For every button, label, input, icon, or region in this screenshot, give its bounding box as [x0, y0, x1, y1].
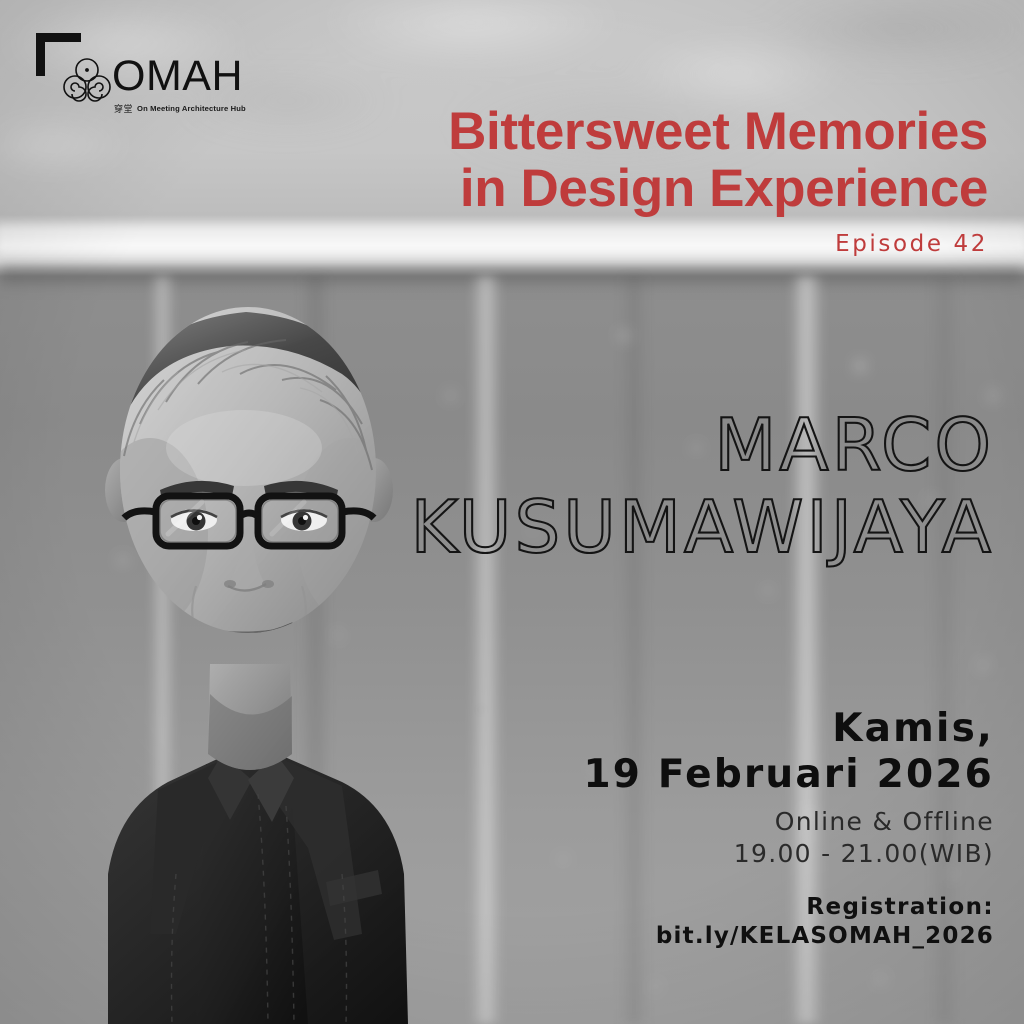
event-details-block: Kamis, 19 Februari 2026 Online & Offline… — [354, 706, 994, 951]
registration-link[interactable]: bit.ly/KELASOMAH_2026 — [354, 922, 994, 951]
event-day: Kamis, — [354, 706, 994, 752]
brand-logo: OMAH 穿堂 On Meeting Architecture Hub — [36, 28, 266, 114]
speaker-last-name: KUSUMAWIJAYA — [274, 486, 994, 568]
brand-cjk-mark: 穿堂 — [114, 102, 133, 115]
event-poster: OMAH 穿堂 On Meeting Architecture Hub Bitt… — [0, 0, 1024, 1024]
brand-tagline-row: 穿堂 On Meeting Architecture Hub — [114, 102, 246, 115]
episode-label: Episode 42 — [248, 231, 988, 257]
brand-tagline: On Meeting Architecture Hub — [137, 104, 246, 113]
title-line-1: Bittersweet Memories — [248, 104, 988, 161]
event-mode: Online & Offline — [354, 806, 994, 838]
title-line-2: in Design Experience — [248, 161, 988, 218]
brand-wordmark: OMAH — [112, 55, 243, 98]
speaker-first-name: MARCO — [274, 404, 994, 486]
registration-label: Registration: — [354, 893, 994, 922]
speaker-name-block: MARCO KUSUMAWIJAYA — [274, 404, 994, 568]
triskelion-spiral-icon — [60, 56, 114, 102]
event-date: 19 Februari 2026 — [354, 752, 994, 798]
event-time: 19.00 - 21.00(WIB) — [354, 838, 994, 870]
poster-title-block: Bittersweet Memories in Design Experienc… — [248, 104, 988, 257]
